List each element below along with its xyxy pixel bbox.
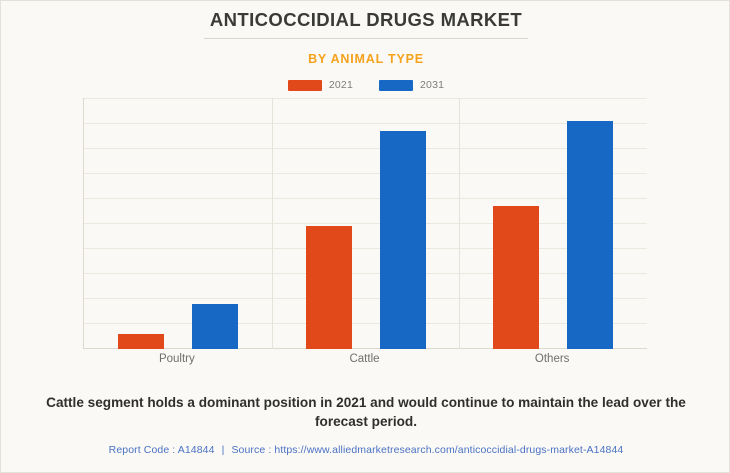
bar-poultry-2021[interactable] xyxy=(118,334,164,349)
bar-group-poultry xyxy=(84,98,272,349)
chart-legend: 2021 2031 xyxy=(1,79,730,91)
footer: Report Code : A14844 | Source : https://… xyxy=(1,444,730,456)
footer-separator: | xyxy=(218,444,229,456)
legend-item-2031[interactable]: 2031 xyxy=(379,79,444,91)
x-tick-others: Others xyxy=(458,353,646,365)
bar-poultry-2031[interactable] xyxy=(192,304,238,349)
bar-cattle-2031[interactable] xyxy=(380,131,426,349)
bar-group-others xyxy=(459,98,647,349)
footer-report-code: Report Code : A14844 xyxy=(109,444,215,456)
footer-source[interactable]: Source : https://www.alliedmarketresearc… xyxy=(231,444,623,456)
x-tick-cattle: Cattle xyxy=(271,353,459,365)
legend-label-2021: 2021 xyxy=(329,79,353,91)
legend-label-2031: 2031 xyxy=(420,79,444,91)
page-title: ANTICOCCIDIAL DRUGS MARKET xyxy=(204,9,528,39)
x-tick-poultry: Poultry xyxy=(83,353,271,365)
legend-item-2021[interactable]: 2021 xyxy=(288,79,353,91)
legend-swatch-2021 xyxy=(288,80,322,91)
chart-x-axis: Poultry Cattle Others xyxy=(83,353,646,365)
chart-bar-groups xyxy=(84,98,647,349)
chart-caption: Cattle segment holds a dominant position… xyxy=(23,393,709,431)
bar-others-2021[interactable] xyxy=(493,206,539,349)
legend-swatch-2031 xyxy=(379,80,413,91)
bar-others-2031[interactable] xyxy=(567,121,613,349)
chart-plot-area xyxy=(83,98,647,349)
bar-cattle-2021[interactable] xyxy=(306,226,352,349)
chart-subtitle: BY ANIMAL TYPE xyxy=(1,52,730,66)
bar-group-cattle xyxy=(272,98,460,349)
title-container: ANTICOCCIDIAL DRUGS MARKET xyxy=(1,9,730,39)
infographic-container: ANTICOCCIDIAL DRUGS MARKET BY ANIMAL TYP… xyxy=(0,0,730,473)
